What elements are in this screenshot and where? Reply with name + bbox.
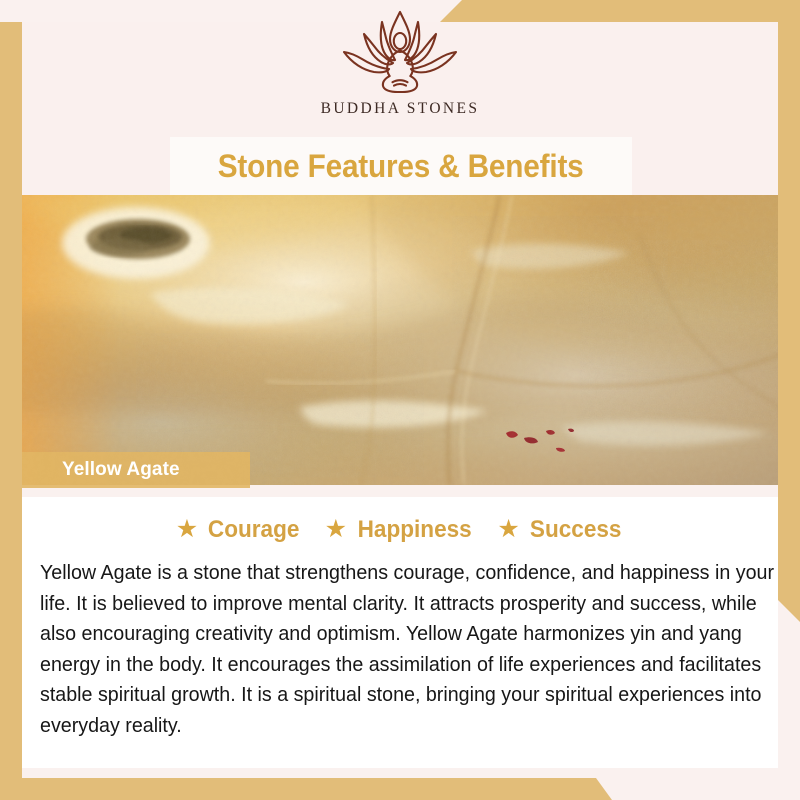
yellow-agate-texture-image — [0, 195, 800, 485]
benefit-item: ★ Courage — [176, 516, 303, 544]
benefit-item: ★ Happiness — [325, 516, 476, 544]
benefit-label-happiness: Happiness — [358, 516, 472, 544]
star-icon: ★ — [497, 517, 519, 542]
frame-right-strip — [778, 22, 800, 622]
benefit-item: ★ Success — [497, 516, 624, 544]
infographic-page: BUDDHA STONES Stone Features & Benefits — [0, 0, 800, 800]
star-icon: ★ — [325, 517, 347, 542]
frame-bottom-band — [0, 778, 800, 800]
frame-left-strip — [0, 22, 22, 778]
benefits-row: ★ Courage ★ Happiness ★ Success — [22, 497, 778, 544]
title-plate: Stone Features & Benefits — [170, 137, 632, 195]
star-icon: ★ — [176, 517, 198, 542]
stone-name-text: Yellow Agate — [62, 459, 180, 481]
benefit-label-success: Success — [530, 516, 622, 544]
stone-name-label: Yellow Agate — [22, 452, 250, 488]
benefit-label-courage: Courage — [208, 516, 300, 544]
stone-description: Yellow Agate is a stone that strengthens… — [40, 558, 796, 741]
brand-name: BUDDHA STONES — [321, 100, 480, 118]
page-title: Stone Features & Benefits — [218, 148, 584, 185]
brand-logo: BUDDHA STONES — [0, 8, 800, 118]
content-card: ★ Courage ★ Happiness ★ Success Yellow A… — [22, 497, 778, 768]
stone-photo — [0, 195, 800, 485]
